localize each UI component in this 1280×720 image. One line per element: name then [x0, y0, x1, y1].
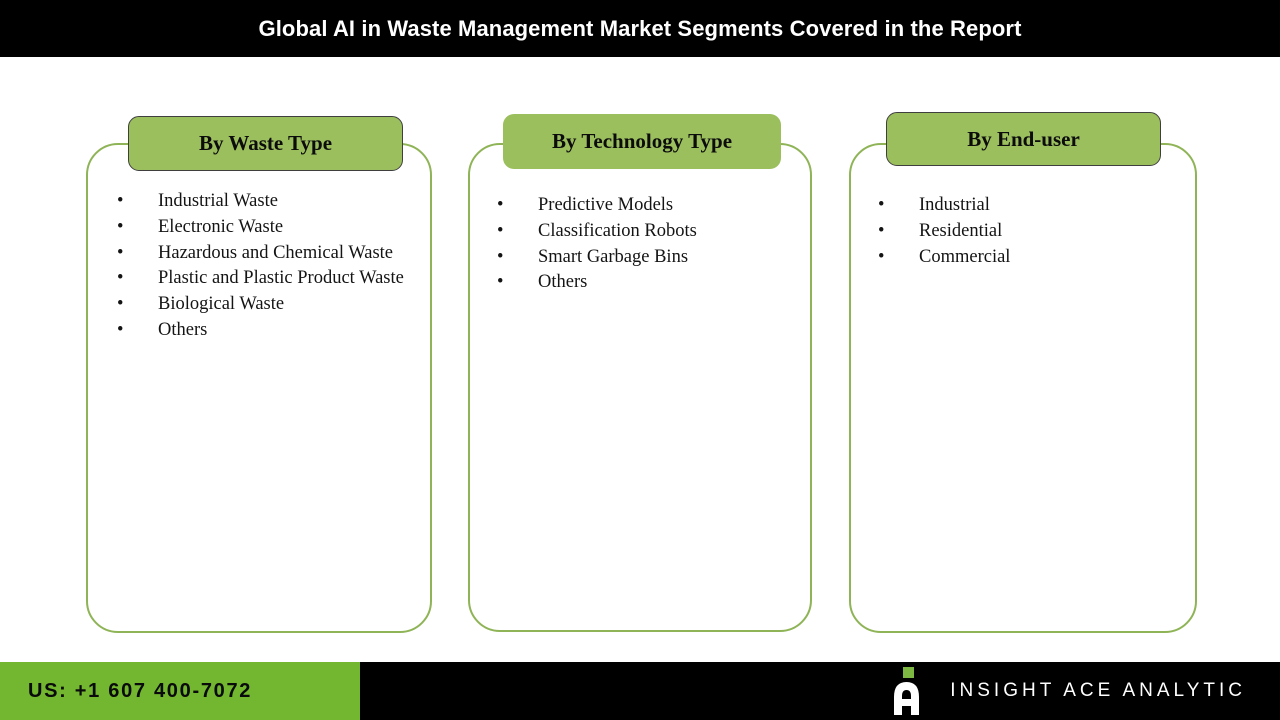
list-item: •Predictive Models: [492, 193, 792, 218]
insightace-a-mark-icon: [886, 666, 932, 716]
segment-badge-technology-type[interactable]: By Technology Type: [503, 114, 781, 169]
list-item: •Residential: [873, 219, 1173, 244]
segment-badge-label: By Technology Type: [552, 129, 732, 154]
bullet-icon: •: [497, 219, 503, 244]
bullet-icon: •: [117, 318, 123, 343]
list-item-label: Plastic and Plastic Product Waste: [158, 268, 404, 288]
list-item-label: Commercial: [919, 247, 1010, 267]
list-item-label: Smart Garbage Bins: [538, 247, 688, 267]
bullet-icon: •: [117, 215, 123, 240]
segments-stage: By Waste Type •Industrial Waste •Electro…: [0, 57, 1280, 662]
segment-badge-end-user[interactable]: By End-user: [886, 112, 1161, 166]
segment-list-waste-type: •Industrial Waste •Electronic Waste •Haz…: [112, 189, 412, 344]
segment-list-technology-type: •Predictive Models •Classification Robot…: [492, 193, 792, 296]
bullet-icon: •: [878, 219, 884, 244]
list-item-label: Others: [158, 320, 207, 340]
list-item: •Others: [492, 270, 792, 295]
segment-badge-waste-type[interactable]: By Waste Type: [128, 116, 403, 171]
bullet-icon: •: [117, 292, 123, 317]
list-item-label: Predictive Models: [538, 195, 673, 215]
page-title: Global AI in Waste Management Market Seg…: [259, 16, 1022, 42]
list-item: •Biological Waste: [112, 292, 412, 317]
header-bar: Global AI in Waste Management Market Seg…: [0, 0, 1280, 57]
list-item: •Industrial: [873, 193, 1173, 218]
segment-list-end-user: •Industrial •Residential •Commercial: [873, 193, 1173, 270]
footer-bar: US: +1 607 400-7072 INSIGHT ACE ANALYTIC: [0, 662, 1280, 720]
bullet-icon: •: [497, 193, 503, 218]
brand-name: INSIGHT ACE ANALYTIC: [950, 680, 1246, 702]
list-item-label: Residential: [919, 221, 1002, 241]
footer-brand: INSIGHT ACE ANALYTIC: [886, 662, 1246, 720]
list-item: •Smart Garbage Bins: [492, 245, 792, 270]
footer-phone-number: US: +1 607 400-7072: [28, 680, 252, 703]
segment-badge-label: By Waste Type: [199, 131, 332, 156]
bullet-icon: •: [497, 270, 503, 295]
list-item: •Classification Robots: [492, 219, 792, 244]
bullet-icon: •: [878, 193, 884, 218]
list-item-label: Others: [538, 272, 587, 292]
list-item: •Hazardous and Chemical Waste: [112, 241, 412, 266]
bullet-icon: •: [878, 245, 884, 270]
segment-badge-label: By End-user: [967, 127, 1080, 152]
list-item-label: Hazardous and Chemical Waste: [158, 243, 393, 263]
bullet-icon: •: [497, 245, 503, 270]
list-item: •Others: [112, 318, 412, 343]
list-item: •Commercial: [873, 245, 1173, 270]
list-item-label: Industrial: [919, 195, 990, 215]
bullet-icon: •: [117, 266, 123, 291]
footer-phone-block[interactable]: US: +1 607 400-7072: [0, 662, 360, 720]
bullet-icon: •: [117, 189, 123, 214]
list-item: •Plastic and Plastic Product Waste: [112, 266, 412, 291]
bullet-icon: •: [117, 241, 123, 266]
list-item-label: Industrial Waste: [158, 191, 278, 211]
list-item-label: Classification Robots: [538, 221, 697, 241]
list-item-label: Electronic Waste: [158, 217, 283, 237]
list-item: •Electronic Waste: [112, 215, 412, 240]
list-item-label: Biological Waste: [158, 294, 284, 314]
list-item: •Industrial Waste: [112, 189, 412, 214]
